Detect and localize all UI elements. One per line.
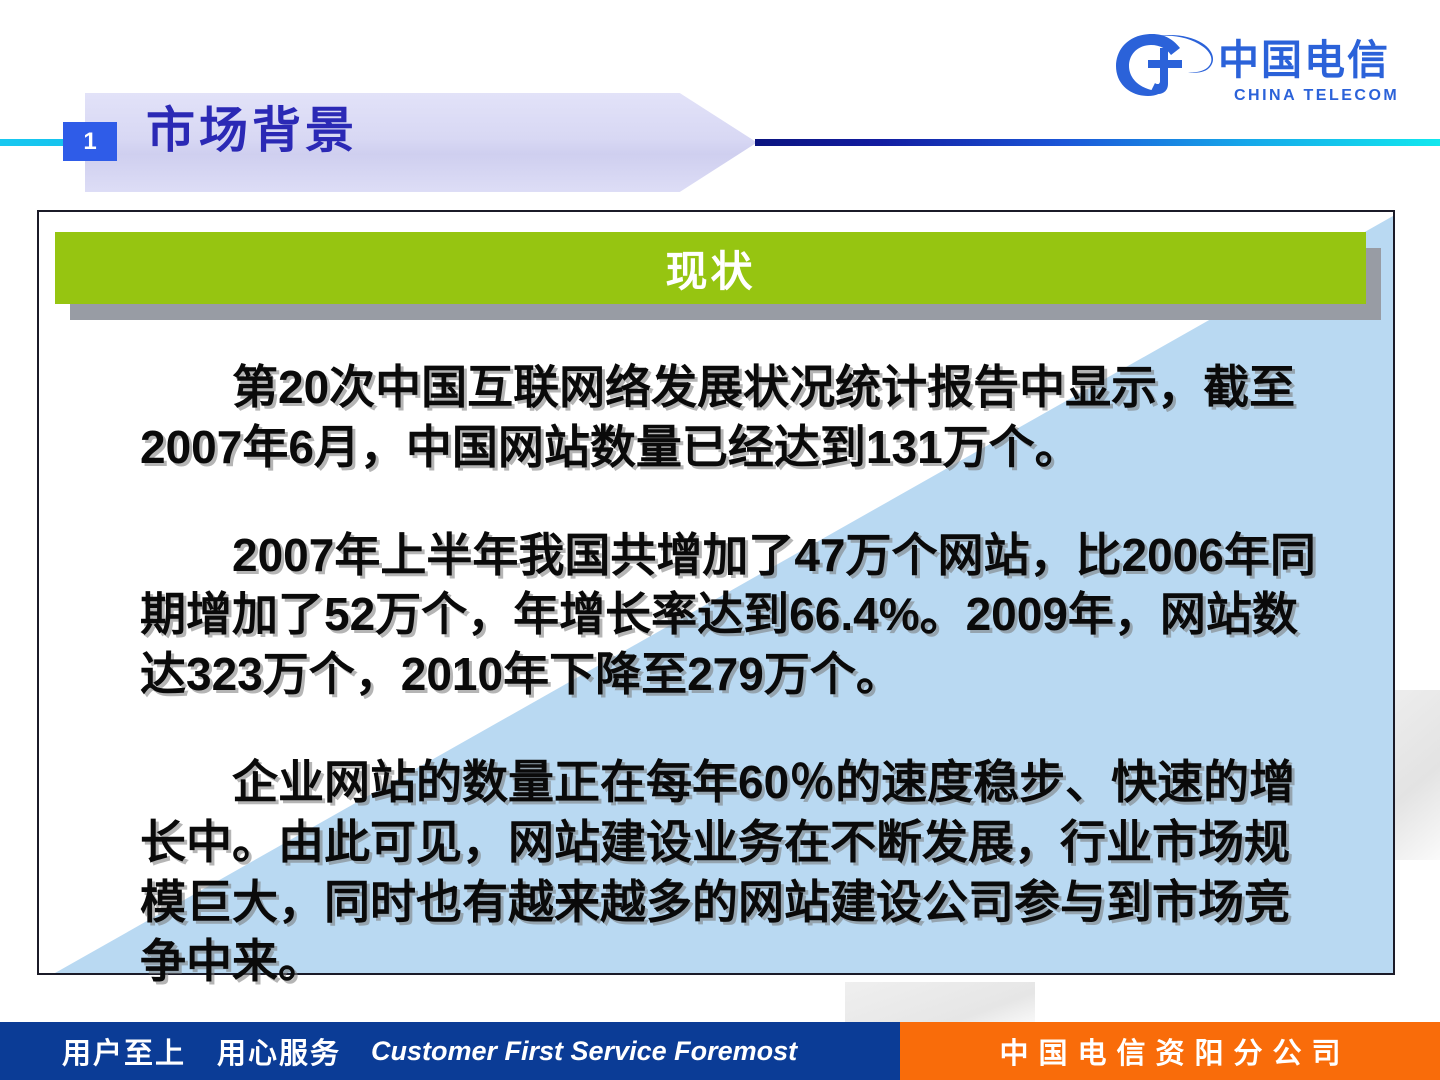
- footer-slogan-english: Customer First Service Foremost: [371, 1036, 797, 1067]
- footer-slogan-chinese: 用户至上 用心服务: [62, 1030, 341, 1072]
- header-left-accent-line: [0, 139, 72, 146]
- paragraph-2: 2007年上半年我国共增加了47万个网站，比2006年同期增加了52万个，年增长…: [140, 526, 1330, 705]
- body-text-block: 第20次中国互联网络发展状况统计报告中显示，截至2007年6月，中国网站数量已经…: [140, 358, 1330, 992]
- paragraph-3: 企业网站的数量正在每年60％的速度稳步、快速的增长中。由此可见，网站建设业务在不…: [140, 753, 1330, 992]
- section-number-badge: 1: [63, 122, 117, 161]
- decorative-shape-right: [1392, 690, 1440, 860]
- footer-company-area: 中国电信资阳分公司: [900, 1022, 1440, 1080]
- slide-footer: 用户至上 用心服务 Customer First Service Foremos…: [0, 1022, 1440, 1080]
- svg-text:中国电信: 中国电信: [1218, 36, 1390, 84]
- china-telecom-logo: 中国电信 CHINA TELECOM: [1112, 24, 1412, 112]
- footer-company-name: 中国电信资阳分公司: [989, 1030, 1350, 1072]
- section-number-label: 1: [83, 130, 96, 154]
- slide-header: 1 市场背景 中国电信 CHINA TELECOM: [0, 0, 1440, 200]
- section-banner-label: 现状: [665, 251, 755, 293]
- svg-text:CHINA TELECOM: CHINA TELECOM: [1234, 87, 1399, 104]
- page-title: 市场背景: [146, 107, 358, 156]
- paragraph-1: 第20次中国互联网络发展状况统计报告中显示，截至2007年6月，中国网站数量已经…: [140, 358, 1330, 478]
- footer-slogan-area: 用户至上 用心服务 Customer First Service Foremos…: [0, 1022, 900, 1080]
- header-gradient-rule: [755, 139, 1440, 146]
- section-banner: 现状: [55, 232, 1366, 304]
